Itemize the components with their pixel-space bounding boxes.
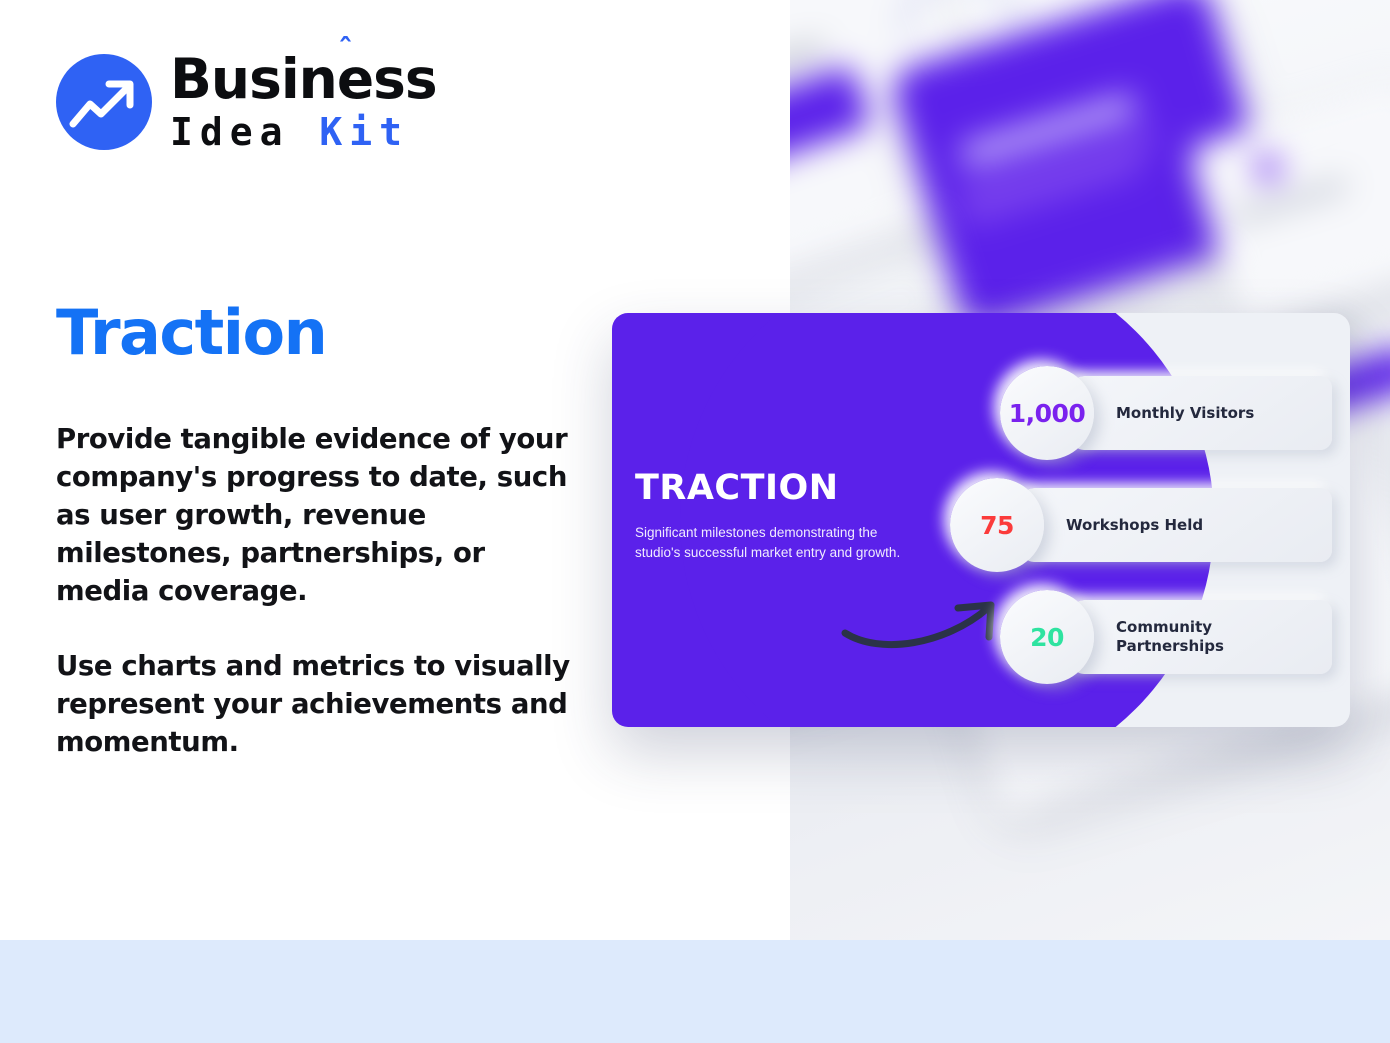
metric-label-pill: Community Partnerships	[1072, 600, 1332, 674]
metric-row[interactable]: 75 Workshops Held	[950, 469, 1332, 581]
metric-value: 75	[980, 511, 1014, 540]
metric-label: Workshops Held	[1066, 516, 1203, 535]
page-title: Traction	[56, 296, 326, 369]
brand-logo: Business ˆ Idea Kit	[56, 52, 437, 151]
brand-line-2-kit: Kit	[319, 110, 409, 154]
metric-value: 20	[1030, 623, 1064, 652]
metric-label: Monthly Visitors	[1116, 404, 1254, 423]
brand-line-2: Idea Kit	[170, 113, 437, 151]
bg-dot-1	[1255, 155, 1281, 181]
slide-heading-block: TRACTION Significant milestones demonstr…	[635, 471, 905, 563]
brand-line-1: Business ˆ	[170, 52, 437, 107]
metric-value: 1,000	[1009, 399, 1086, 428]
slide-preview-page: Business ˆ Idea Kit Traction Provide tan…	[0, 0, 1390, 1043]
brand-line-1-text: Business	[170, 47, 437, 111]
growth-arrow-logo-icon	[56, 54, 152, 150]
bottom-accent-band	[0, 940, 1390, 1043]
metric-value-circle: 1,000	[1000, 366, 1094, 460]
metric-label-pill: Workshops Held	[1022, 488, 1332, 562]
slide-subtitle: Significant milestones demonstrating the…	[635, 523, 905, 563]
brand-line-2-idea: Idea	[170, 110, 290, 154]
metrics-list: 1,000 Monthly Visitors 75 Workshops Held…	[982, 357, 1332, 693]
body-paragraph-1: Provide tangible evidence of your compan…	[56, 420, 576, 610]
metric-label-pill: Monthly Visitors	[1072, 376, 1332, 450]
traction-slide-card[interactable]: TRACTION Significant milestones demonstr…	[612, 313, 1350, 727]
circumflex-accent-icon: ˆ	[338, 36, 352, 66]
metric-row[interactable]: 1,000 Monthly Visitors	[1000, 357, 1332, 469]
body-paragraph-2: Use charts and metrics to visually repre…	[56, 647, 576, 761]
slide-title: TRACTION	[635, 471, 905, 506]
metric-row[interactable]: 20 Community Partnerships	[1000, 581, 1332, 693]
metric-value-circle: 20	[1000, 590, 1094, 684]
metric-value-circle: 75	[950, 478, 1044, 572]
metric-label: Community Partnerships	[1116, 618, 1266, 656]
brand-wordmark: Business ˆ Idea Kit	[170, 52, 437, 151]
